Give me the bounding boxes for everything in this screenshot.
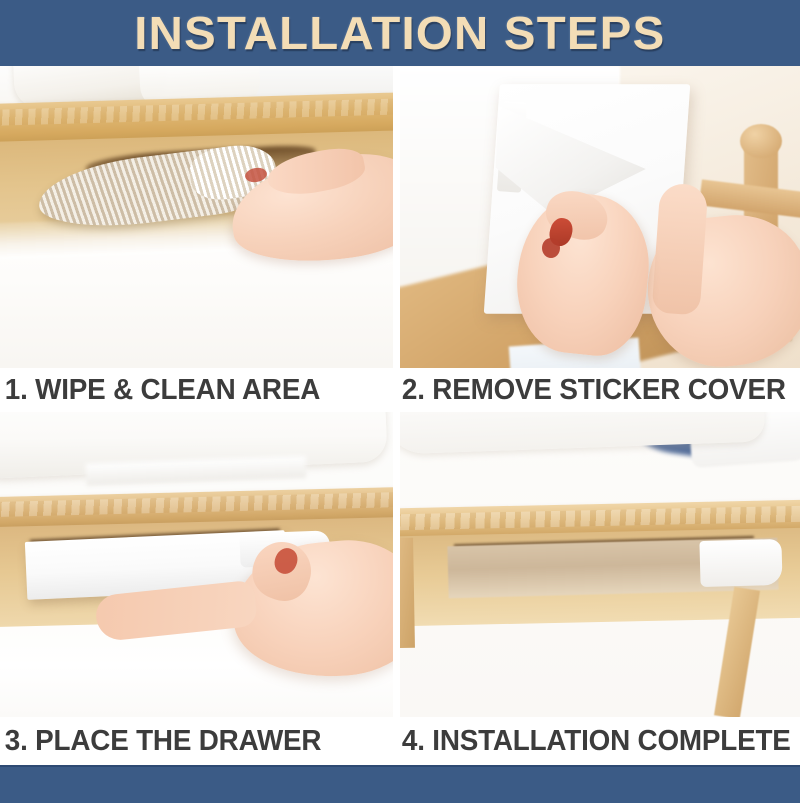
step-3-image (0, 412, 393, 717)
chair-knob (740, 124, 782, 158)
fingernail-secondary (542, 238, 560, 258)
header-banner: INSTALLATION STEPS (0, 0, 800, 66)
step-4-caption-band: 4. INSTALLATION COMPLETE (400, 717, 800, 765)
right-hand-fingers (652, 182, 709, 315)
step-2-caption-band: 2. REMOVE STICKER COVER (400, 368, 800, 412)
step-2-image (400, 66, 800, 368)
step-3-caption-band: 3. PLACE THE DRAWER (0, 717, 393, 765)
footer-banner (0, 765, 800, 803)
step-1-image (0, 66, 393, 368)
step-2-panel (400, 66, 800, 368)
steps-grid: 1. WIPE & CLEAN AREA (0, 66, 800, 765)
step-4-caption: 4. INSTALLATION COMPLETE (400, 725, 791, 758)
desk-leg-left (400, 538, 415, 648)
step-2-caption: 2. REMOVE STICKER COVER (400, 374, 786, 407)
column-divider (393, 66, 400, 765)
step-1-caption: 1. WIPE & CLEAN AREA (0, 374, 320, 407)
step-4-image (400, 412, 800, 717)
step-1-panel (0, 66, 393, 368)
page-title: INSTALLATION STEPS (134, 6, 665, 60)
drawer-end-cap (699, 539, 782, 587)
step-3-caption: 3. PLACE THE DRAWER (0, 725, 321, 758)
installation-steps-infographic: INSTALLATION STEPS 1. W (0, 0, 800, 803)
step-3-panel (0, 412, 393, 717)
step-1-caption-band: 1. WIPE & CLEAN AREA (0, 368, 393, 412)
step-4-panel (400, 412, 800, 717)
